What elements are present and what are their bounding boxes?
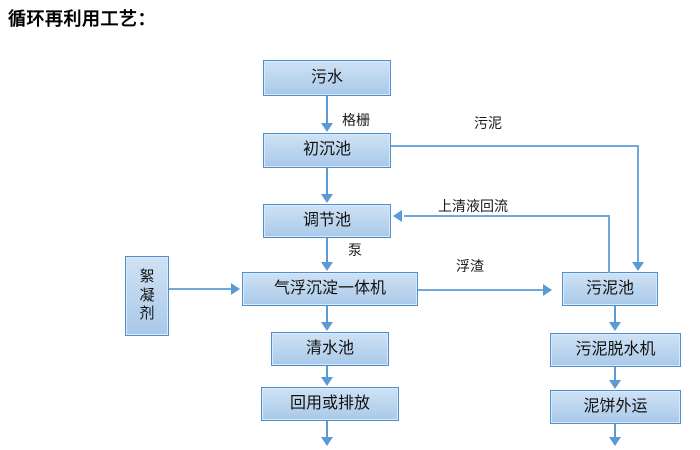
connector-scum-to-sludge-tank bbox=[418, 289, 544, 291]
flowchart-canvas: 循环再利用工艺： 污水 初沉池 调节池 絮 凝 剂 气浮沉淀一体机 清水池 回用… bbox=[0, 0, 700, 450]
arrowhead-primary-to-regulating bbox=[321, 194, 333, 203]
connector-sludge-horizontal bbox=[391, 145, 638, 147]
arrowhead-dewaterer-to-mudcake bbox=[609, 380, 621, 389]
node-air-flotation-sedimentation-machine[interactable]: 气浮沉淀一体机 bbox=[242, 272, 418, 306]
connector-regulating-to-flotation bbox=[326, 238, 328, 263]
node-flocculant[interactable]: 絮 凝 剂 bbox=[125, 256, 169, 336]
arrowhead-sludgetank-to-dewaterer bbox=[609, 322, 621, 331]
arrowhead-mudcake-outflow bbox=[609, 437, 621, 446]
node-reuse-or-discharge-label: 回用或排放 bbox=[290, 395, 370, 413]
node-reuse-or-discharge[interactable]: 回用或排放 bbox=[261, 387, 399, 421]
arrowhead-reuse-outflow bbox=[321, 437, 333, 446]
connector-flocculant-to-flotation bbox=[169, 288, 233, 290]
node-air-flotation-sedimentation-machine-label: 气浮沉淀一体机 bbox=[274, 280, 386, 298]
node-flocculant-label-line2: 凝 bbox=[139, 287, 154, 306]
node-clear-water-tank-label: 清水池 bbox=[306, 340, 354, 358]
connector-supernatant-vertical bbox=[608, 215, 610, 273]
arrowhead-clearwater-to-reuse bbox=[321, 377, 333, 386]
node-regulating-tank-label: 调节池 bbox=[303, 212, 351, 230]
node-primary-sedimentation-tank-label: 初沉池 bbox=[303, 141, 351, 159]
arrowhead-wastewater-to-primary bbox=[321, 123, 333, 132]
connector-dewaterer-to-mudcake bbox=[614, 367, 616, 381]
arrowhead-scum-to-sludge-tank bbox=[543, 284, 552, 296]
node-flocculant-label-line1: 絮 bbox=[139, 268, 154, 287]
arrowhead-supernatant-to-regulating bbox=[393, 210, 402, 222]
arrowhead-flocculant-to-flotation bbox=[231, 283, 240, 295]
connector-wastewater-to-primary bbox=[326, 96, 328, 124]
arrowhead-regulating-to-flotation bbox=[321, 262, 333, 271]
node-wastewater-label: 污水 bbox=[311, 69, 343, 87]
edge-label-scum: 浮渣 bbox=[456, 256, 484, 276]
node-mud-cake-transport[interactable]: 泥饼外运 bbox=[550, 390, 681, 424]
node-wastewater[interactable]: 污水 bbox=[263, 60, 391, 96]
edge-label-sludge: 污泥 bbox=[474, 113, 502, 133]
node-mud-cake-transport-label: 泥饼外运 bbox=[583, 398, 647, 416]
edge-label-supernatant-return: 上清液回流 bbox=[438, 196, 508, 216]
connector-sludge-vertical bbox=[637, 145, 639, 263]
node-sludge-tank-label: 污泥池 bbox=[586, 280, 634, 298]
edge-label-pump: 泵 bbox=[348, 240, 362, 260]
node-sludge-dewatering-machine-label: 污泥脱水机 bbox=[575, 341, 655, 359]
connector-primary-to-regulating bbox=[326, 168, 328, 195]
arrowhead-flotation-to-clearwater bbox=[321, 322, 333, 331]
page-title: 循环再利用工艺： bbox=[8, 5, 156, 31]
node-regulating-tank[interactable]: 调节池 bbox=[263, 204, 391, 238]
node-sludge-dewatering-machine[interactable]: 污泥脱水机 bbox=[550, 333, 681, 367]
node-flocculant-label-line3: 剂 bbox=[139, 305, 154, 324]
connector-sludgetank-to-dewaterer bbox=[614, 306, 616, 323]
node-primary-sedimentation-tank[interactable]: 初沉池 bbox=[263, 133, 391, 168]
arrowhead-sludge-to-sludge-tank bbox=[632, 262, 644, 271]
edge-label-grate: 格栅 bbox=[342, 110, 370, 130]
node-clear-water-tank[interactable]: 清水池 bbox=[271, 332, 389, 366]
node-sludge-tank[interactable]: 污泥池 bbox=[562, 272, 658, 306]
